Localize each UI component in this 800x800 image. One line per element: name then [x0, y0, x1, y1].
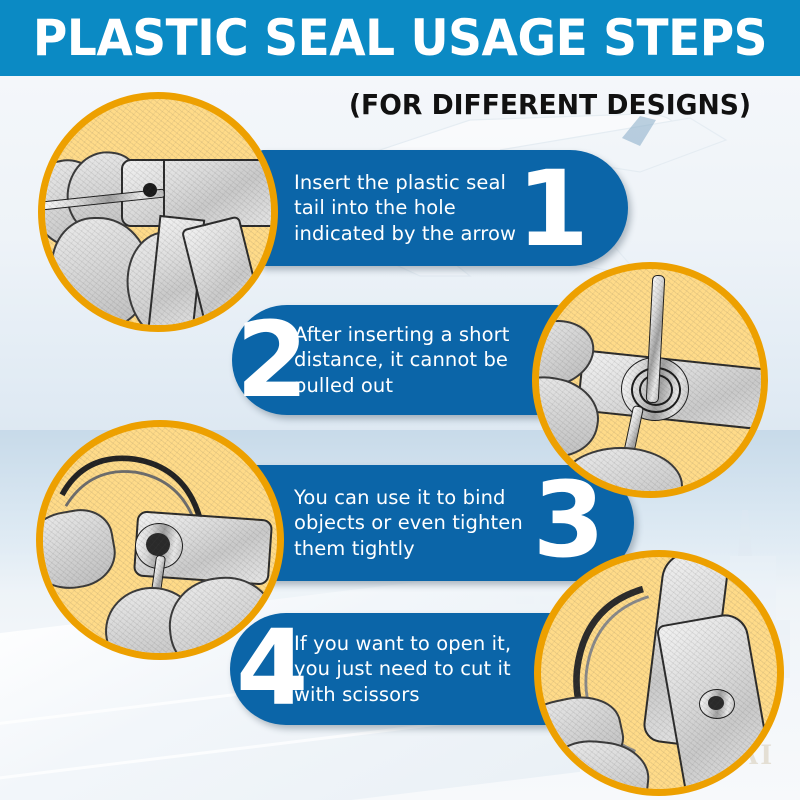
step-1-photo [38, 92, 278, 332]
step-2-photo [532, 262, 768, 498]
step-1-text: Insert the plastic seal tail into the ho… [294, 170, 529, 246]
seal-locked-illustration [539, 269, 761, 491]
step-3-photo [36, 420, 284, 660]
step-banner-1: Insert the plastic seal tail into the ho… [258, 150, 628, 266]
header-bar: PLASTIC SEAL USAGE STEPS [0, 0, 800, 76]
seal-insert-illustration [45, 99, 271, 325]
hand-sketch [559, 447, 683, 498]
step-banner-2: 2 After inserting a short distance, it c… [232, 305, 562, 415]
scissors-cutting-illustration [541, 557, 777, 789]
step-1-number: 1 [517, 168, 586, 251]
page-title: PLASTIC SEAL USAGE STEPS [24, 0, 776, 76]
seal-tightening-illustration [43, 427, 277, 653]
infographic-poster: SAI PLASTIC SEAL USAGE STEPS (FOR DIFFER… [0, 0, 800, 800]
seal-eyelet-hole [146, 533, 170, 556]
page-subtitle: (FOR DIFFERENT DESIGNS) [341, 88, 759, 121]
step-3-number: 3 [533, 479, 602, 562]
step-3-text: You can use it to bind objects or even t… [294, 485, 534, 561]
step-4-photo [534, 550, 784, 796]
step-banner-4: 4 If you want to open it, you just need … [230, 613, 570, 725]
insertion-hole-dot [143, 183, 157, 197]
step-2-text: After inserting a short distance, it can… [294, 322, 537, 398]
step-4-text: If you want to open it, you just need to… [294, 631, 542, 707]
